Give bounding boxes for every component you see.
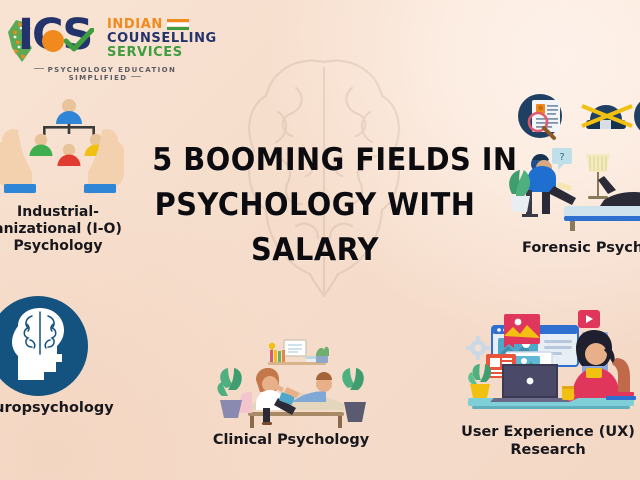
field-io-psychology[interactable]: Industrial- anizational (I-O) Psychology xyxy=(0,96,138,255)
ux-designer-laptop-icon xyxy=(458,306,638,422)
forensic-therapy-session-icon: ? xyxy=(504,90,640,238)
hands-holding-org-chart-icon xyxy=(0,96,138,200)
neuro-label-line-1: europsychology xyxy=(0,400,124,418)
logo-word-counselling: COUNSELLING xyxy=(107,32,217,46)
logo-wordmark: INDIAN COUNSELLING SERVICES xyxy=(107,18,217,59)
logo-orange-dot-icon xyxy=(42,30,64,52)
io-label-line-2: anizational (I-O) xyxy=(0,221,138,238)
svg-text:?: ? xyxy=(559,152,564,163)
clinical-label-line-1: Clinical Psychology xyxy=(210,432,372,450)
title-line-2: PSYCHOLOGY WITH xyxy=(152,183,478,228)
therapy-couch-session-icon xyxy=(210,326,372,430)
ux-label-line-2: Research xyxy=(458,442,638,460)
head-brain-circle-icon xyxy=(0,296,124,396)
logo-tagline: PSYCHOLOGY EDUCATION SIMPLIFIED xyxy=(12,66,198,82)
field-neuropsychology-label: europsychology xyxy=(0,400,124,418)
brand-logo[interactable]: ICS INDIAN COUNSELLING SERVICES PSYCHOLO… xyxy=(4,6,204,78)
field-neuropsychology[interactable]: europsychology xyxy=(0,296,124,418)
field-clinical-psychology[interactable]: Clinical Psychology xyxy=(210,326,372,450)
logo-tagline-text: PSYCHOLOGY EDUCATION SIMPLIFIED xyxy=(48,66,177,82)
tricolor-bars-icon xyxy=(167,19,189,31)
logo-checkmark-icon xyxy=(64,28,94,54)
title-line-3: SALARY xyxy=(152,228,478,273)
poster-canvas: ICS INDIAN COUNSELLING SERVICES PSYCHOLO… xyxy=(0,0,640,480)
logo-word-indian: INDIAN xyxy=(107,18,217,32)
field-forensic-psychology-label: Forensic Psycho xyxy=(504,240,640,258)
field-clinical-psychology-label: Clinical Psychology xyxy=(210,432,372,450)
io-label-line-1: Industrial- xyxy=(0,204,138,221)
field-forensic-psychology[interactable]: ? xyxy=(504,90,640,258)
title-line-1: 5 BOOMING FIELDS IN xyxy=(152,138,478,183)
ux-label-line-1: User Experience (UX) xyxy=(458,424,638,442)
field-ux-research[interactable]: User Experience (UX) Research xyxy=(458,306,638,459)
poster-title: 5 BOOMING FIELDS IN PSYCHOLOGY WITH SALA… xyxy=(152,138,478,273)
logo-word-services: SERVICES xyxy=(107,46,217,60)
field-io-psychology-label: Industrial- anizational (I-O) Psychology xyxy=(0,204,138,255)
field-ux-research-label: User Experience (UX) Research xyxy=(458,424,638,459)
forensic-label-line-1: Forensic Psycho xyxy=(522,240,640,258)
io-label-line-3: Psychology xyxy=(0,238,138,255)
